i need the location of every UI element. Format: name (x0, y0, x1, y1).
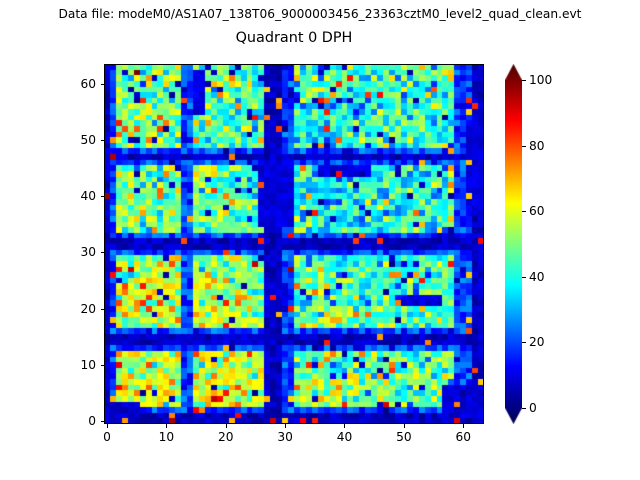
colorbar-tick-mark (522, 277, 526, 278)
y-tick-mark (101, 309, 105, 310)
colorbar-tick-mark (522, 342, 526, 343)
colorbar-tick-mark (522, 80, 526, 81)
x-tick-label: 0 (103, 430, 111, 444)
y-tick-mark (101, 196, 105, 197)
colorbar-gradient (505, 64, 522, 424)
y-tick-mark (101, 84, 105, 85)
x-tick-mark (463, 424, 464, 428)
x-tick-label: 40 (337, 430, 353, 444)
axes-spine-top (104, 64, 484, 65)
y-tick-mark (101, 252, 105, 253)
colorbar-tick-label: 60 (529, 204, 545, 218)
y-tick-label: 60 (80, 77, 96, 91)
axes-spine-right (483, 64, 484, 424)
x-tick-label: 10 (159, 430, 175, 444)
y-tick-label: 20 (80, 302, 96, 316)
y-tick-label: 30 (80, 245, 96, 259)
colorbar-tick-mark (522, 408, 526, 409)
matplotlib-figure: Data file: modeM0/AS1A07_138T06_90000034… (0, 0, 640, 480)
y-tick-label: 10 (80, 358, 96, 372)
y-tick-label: 50 (80, 133, 96, 147)
data-file-suptitle: Data file: modeM0/AS1A07_138T06_90000034… (0, 7, 640, 21)
y-tick-mark (101, 421, 105, 422)
colorbar-tick-label: 0 (529, 401, 537, 415)
colorbar-tick-label: 40 (529, 270, 545, 284)
colorbar-tick-label: 100 (529, 73, 552, 87)
axes-spine-bottom (104, 423, 484, 424)
y-tick-mark (101, 140, 105, 141)
colorbar-tick-label: 80 (529, 139, 545, 153)
axes-title: Quadrant 0 DPH (104, 30, 484, 46)
heatmap-axes: 0102030405060 0102030405060 (104, 64, 484, 424)
colorbar-tick-mark (522, 211, 526, 212)
colorbar-tick-label: 20 (529, 335, 545, 349)
x-tick-mark (344, 424, 345, 428)
x-tick-mark (404, 424, 405, 428)
y-tick-mark (101, 365, 105, 366)
axes-spine-left (104, 64, 105, 424)
x-tick-label: 30 (277, 430, 293, 444)
x-tick-label: 50 (396, 430, 412, 444)
x-tick-mark (285, 424, 286, 428)
colorbar-tick-mark (522, 146, 526, 147)
y-tick-label: 40 (80, 189, 96, 203)
colorbar: 020406080100 (505, 64, 522, 424)
x-tick-mark (166, 424, 167, 428)
x-tick-label: 20 (218, 430, 234, 444)
x-tick-label: 60 (455, 430, 471, 444)
y-tick-label: 0 (88, 414, 96, 428)
dph-heatmap-image (104, 64, 484, 424)
x-tick-mark (226, 424, 227, 428)
x-tick-mark (107, 424, 108, 428)
